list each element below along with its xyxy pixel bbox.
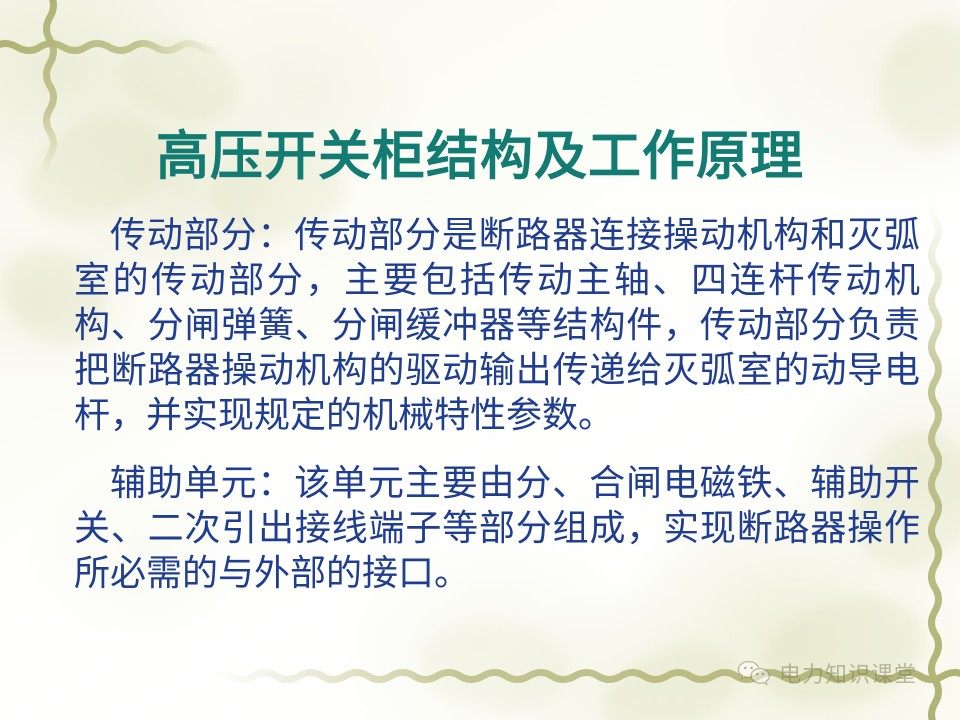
slide-canvas: 高压开关柜结构及工作原理 传动部分：传动部分是断路器连接操动机构和灭弧室的传动部… — [0, 0, 960, 720]
slide-body: 传动部分：传动部分是断路器连接操动机构和灭弧室的传动部分，主要包括传动主轴、四连… — [74, 213, 920, 596]
wechat-bubble-icon — [737, 660, 771, 686]
body-paragraph-auxiliary: 辅助单元：该单元主要由分、合闸电磁铁、辅助开关、二次引出接线端子等部分组成，实现… — [74, 461, 920, 596]
watermark-label: 电力知识课堂 — [779, 657, 917, 689]
body-paragraph-transmission: 传动部分：传动部分是断路器连接操动机构和灭弧室的传动部分，主要包括传动主轴、四连… — [74, 213, 920, 438]
watermark: 电力知识课堂 — [737, 657, 917, 689]
slide-title: 高压开关柜结构及工作原理 — [0, 128, 960, 187]
